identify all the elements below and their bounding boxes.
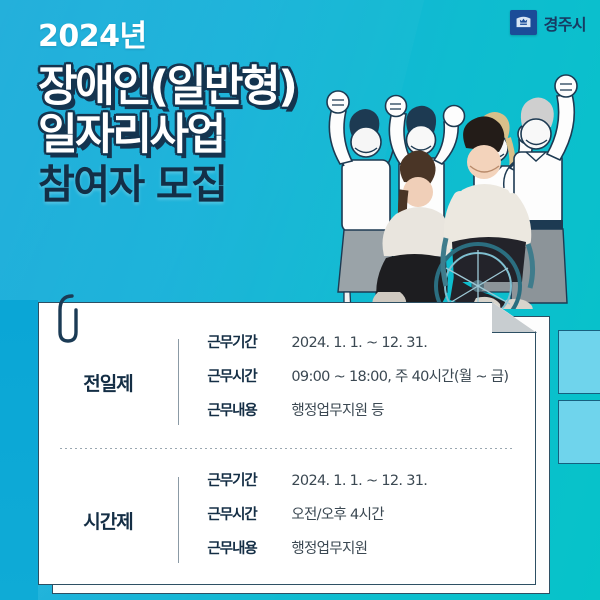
row-value-period: 2024. 1. 1. ~ 12. 31. bbox=[281, 335, 427, 351]
row-label-period: 근무기간 bbox=[207, 331, 281, 352]
row-value-duties: 행정업무지원 bbox=[281, 537, 367, 558]
row-value-hours: 09:00 ~ 18:00, 주 40시간(월 ~ 금) bbox=[281, 365, 508, 386]
row-label-hours: 근무시간 bbox=[207, 503, 281, 524]
row-label-hours: 근무시간 bbox=[207, 365, 281, 386]
row-label-period: 근무기간 bbox=[207, 469, 281, 490]
table-row: 근무내용 행정업무지원 bbox=[207, 537, 427, 571]
section-separator-dotted bbox=[60, 448, 512, 449]
left-color-band bbox=[0, 300, 38, 600]
row-label-duties: 근무내용 bbox=[207, 399, 281, 420]
city-logo: 경주시 bbox=[510, 10, 586, 35]
headline-line-3: 참여자 모집 bbox=[38, 165, 295, 206]
part-time-rows: 근무기간 2024. 1. 1. ~ 12. 31. 근무시간 오전/오후 4시… bbox=[179, 469, 427, 571]
headline-line-2: 일자리사업 bbox=[38, 114, 295, 158]
poster-root: 경주시 bbox=[0, 0, 600, 600]
people-cheering-illustration bbox=[300, 14, 600, 309]
full-time-rows: 근무기간 2024. 1. 1. ~ 12. 31. 근무시간 09:00 ~ … bbox=[179, 331, 508, 433]
info-card-content: 전일제 근무기간 2024. 1. 1. ~ 12. 31. 근무시간 09:0… bbox=[38, 302, 536, 585]
gyeongju-city-emblem-icon bbox=[510, 10, 537, 35]
table-row: 근무기간 2024. 1. 1. ~ 12. 31. bbox=[207, 469, 427, 503]
row-label-duties: 근무내용 bbox=[207, 537, 281, 558]
section-title-full-time: 전일제 bbox=[38, 369, 178, 396]
city-name-label: 경주시 bbox=[544, 11, 586, 35]
section-full-time: 전일제 근무기간 2024. 1. 1. ~ 12. 31. 근무시간 09:0… bbox=[38, 330, 536, 434]
section-part-time: 시간제 근무기간 2024. 1. 1. ~ 12. 31. 근무시간 오전/오… bbox=[38, 468, 536, 572]
side-tab-lower bbox=[558, 400, 600, 464]
headline-year: 2024년 bbox=[38, 22, 295, 52]
row-value-hours: 오전/오후 4시간 bbox=[281, 503, 383, 524]
section-title-part-time: 시간제 bbox=[38, 507, 178, 534]
headline-line-1: 장애인(일반형) bbox=[38, 66, 295, 110]
table-row: 근무시간 09:00 ~ 18:00, 주 40시간(월 ~ 금) bbox=[207, 365, 508, 399]
table-row: 근무내용 행정업무지원 등 bbox=[207, 399, 508, 433]
side-tab-upper bbox=[558, 330, 600, 394]
table-row: 근무시간 오전/오후 4시간 bbox=[207, 503, 427, 537]
table-row: 근무기간 2024. 1. 1. ~ 12. 31. bbox=[207, 331, 508, 365]
row-value-duties: 행정업무지원 등 bbox=[281, 399, 383, 420]
row-value-period: 2024. 1. 1. ~ 12. 31. bbox=[281, 473, 427, 489]
headline-block: 2024년 장애인(일반형) 일자리사업 참여자 모집 bbox=[38, 22, 295, 206]
